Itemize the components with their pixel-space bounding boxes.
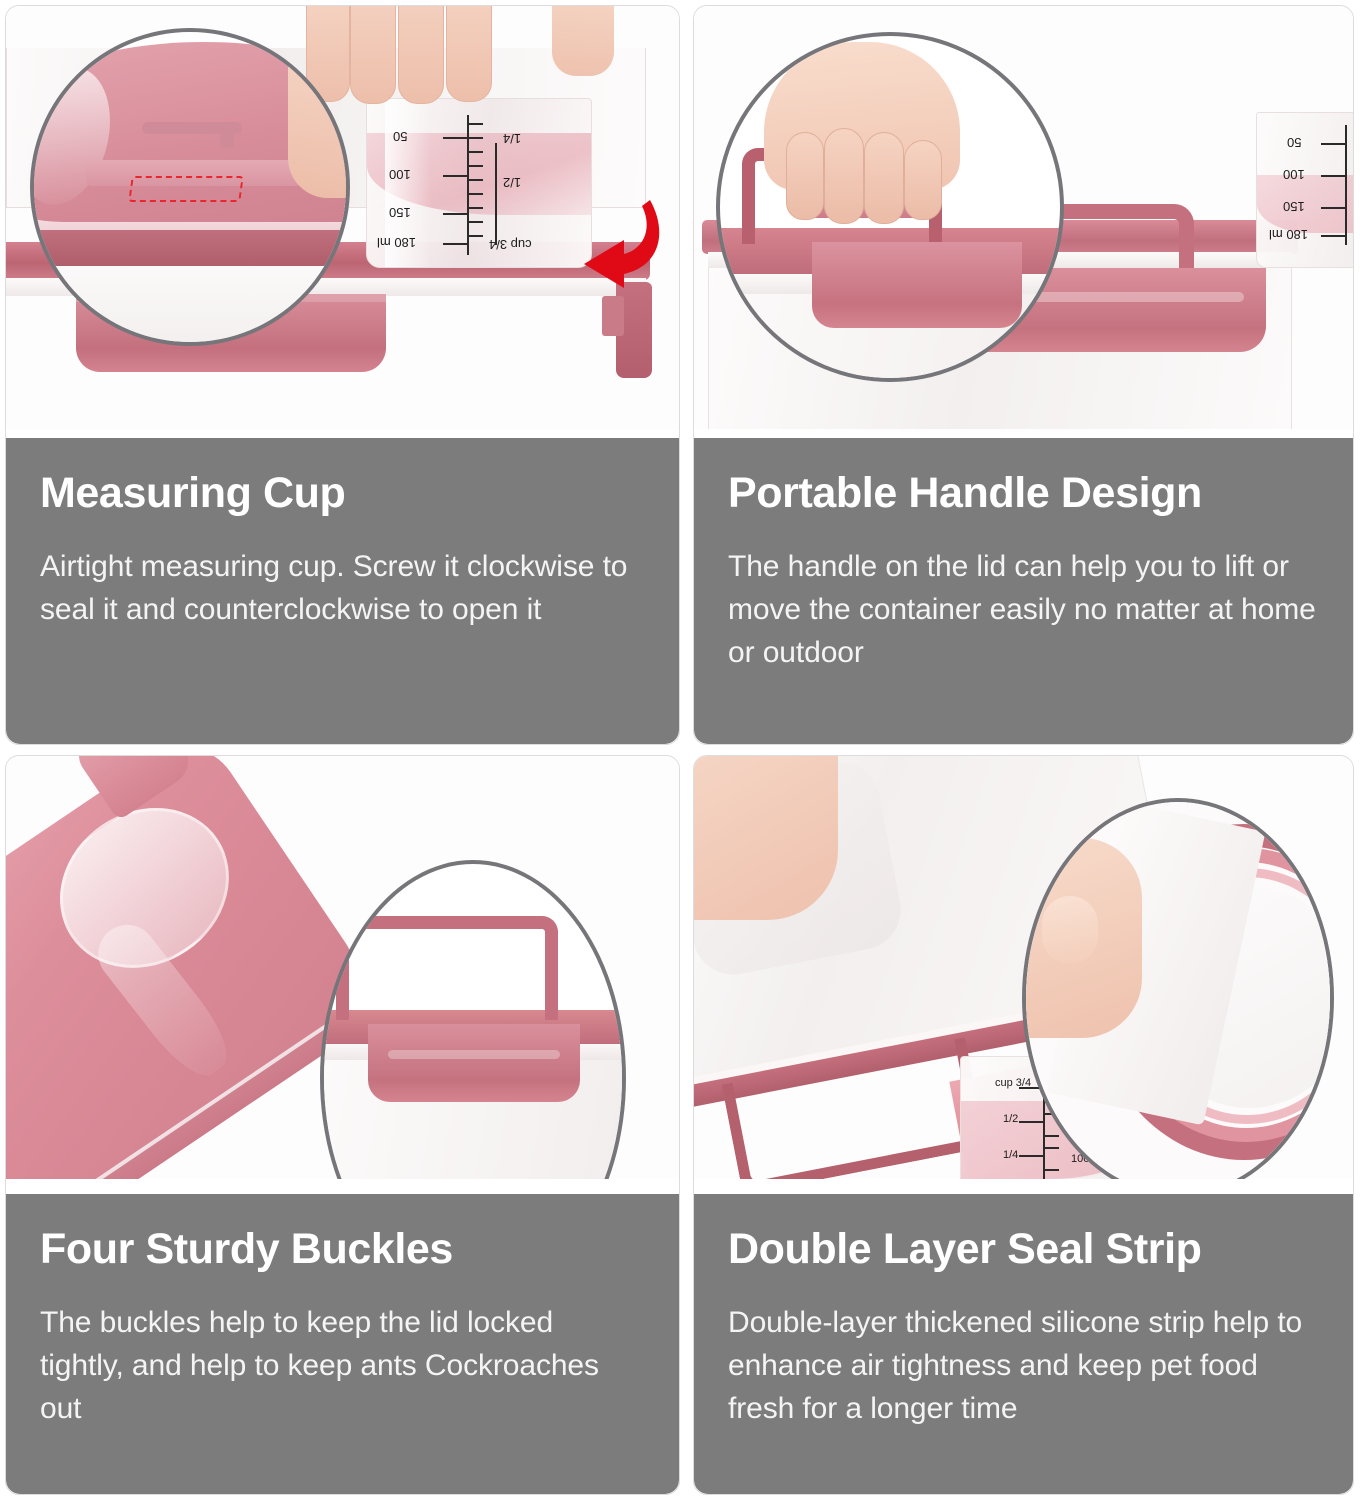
scale-label-150: 150: [389, 205, 411, 220]
scale-tick: [467, 165, 483, 167]
magnified-carry-handle: [336, 916, 558, 1020]
product-photo-double-layer-seal: cup 3/4 1/2 1/4 180 ml 150 100 50: [694, 756, 1353, 1179]
product-photo-four-buckles: [6, 756, 679, 1179]
scale-tick-major: [443, 175, 469, 177]
card-title: Four Sturdy Buckles: [40, 1228, 643, 1271]
feature-card-four-buckles: Four Sturdy Buckles The buckles help to …: [0, 750, 688, 1500]
scale-tick-major: [443, 243, 469, 245]
magnifier-screw-seal-detail: [30, 28, 350, 346]
scale-tick: [467, 207, 483, 209]
thumb: [552, 6, 614, 76]
scale-label-50: 50: [1287, 135, 1301, 150]
magnified-buckle: [368, 1024, 580, 1102]
card-title: Measuring Cup: [40, 472, 643, 515]
finger: [446, 6, 492, 102]
magnified-finger: [288, 28, 350, 198]
scale-tick: [467, 137, 483, 139]
scale-tick-major: [1321, 143, 1347, 145]
finger: [824, 128, 864, 224]
scale-axis: [467, 115, 469, 255]
scale-tick: [467, 221, 483, 223]
caption-four-buckles: Four Sturdy Buckles The buckles help to …: [6, 1194, 679, 1494]
thumbnail: [1042, 896, 1098, 964]
magnifier-closed-buckle-detail: [320, 860, 626, 1179]
buckle-grip-ridge: [388, 1050, 560, 1059]
scale-tick: [467, 193, 483, 195]
caption-measuring-cup: Measuring Cup Airtight measuring cup. Sc…: [6, 438, 679, 744]
dome-highlight: [30, 57, 124, 214]
cup-pink-band: [1257, 175, 1353, 233]
scale-tick: [467, 179, 483, 181]
card-title: Double Layer Seal Strip: [728, 1228, 1317, 1271]
measuring-cup-port: [29, 776, 260, 1000]
finger: [786, 132, 824, 220]
red-dashed-annotation: [128, 176, 244, 202]
card-body: The handle on the lid can help you to li…: [728, 545, 1317, 674]
feature-card-portable-handle: 50 100 150 180 ml: [688, 0, 1362, 750]
scale-tick: [467, 123, 483, 125]
finger: [904, 140, 942, 220]
card-frame: 50 100 150 180 ml 1/4 1/2 cup 3/4: [5, 5, 680, 745]
measuring-cup: 50 100 150 180 ml: [1256, 112, 1353, 268]
scale-label-180ml: 180 ml: [377, 235, 416, 250]
scale-tick-major: [1321, 235, 1347, 237]
scale-label-quarter: 1/4: [1003, 1149, 1018, 1161]
finger: [398, 6, 444, 104]
measuring-cup: 50 100 150 180 ml 1/4 1/2 cup 3/4: [366, 98, 592, 268]
scale-label-quarter: 1/4: [503, 131, 521, 146]
scale-tick-major: [443, 137, 469, 139]
card-body: Airtight measuring cup. Screw it clockwi…: [40, 545, 640, 631]
scale-label-half: 1/2: [1003, 1113, 1018, 1125]
magnified-lid-rim: [30, 228, 350, 266]
side-buckle-clip: [602, 296, 624, 336]
scale-label-150: 150: [1283, 199, 1305, 214]
card-frame: 50 100 150 180 ml: [693, 5, 1354, 745]
scale-label-100: 100: [1283, 167, 1305, 182]
magnified-buckle: [812, 242, 1022, 328]
palm: [694, 756, 838, 920]
scale-tick: [467, 235, 483, 237]
scale-tick: [467, 151, 483, 153]
product-photo-measuring-cup: 50 100 150 180 ml 1/4 1/2 cup 3/4: [6, 6, 679, 429]
magnifier-double-seal-ring-detail: [1022, 798, 1334, 1179]
finger: [864, 132, 904, 224]
scale-tick-major: [443, 213, 469, 215]
caption-portable-handle: Portable Handle Design The handle on the…: [694, 438, 1353, 744]
scale-label-50: 50: [393, 129, 407, 144]
scale-tick-major: [1321, 175, 1347, 177]
card-frame: Four Sturdy Buckles The buckles help to …: [5, 755, 680, 1495]
magnifier-hand-gripping-handle: [716, 32, 1064, 382]
screw-nub-stop: [220, 128, 234, 148]
scale-label-100: 100: [389, 167, 411, 182]
card-title: Portable Handle Design: [728, 472, 1317, 515]
card-body: The buckles help to keep the lid locked …: [40, 1301, 640, 1430]
feature-card-measuring-cup: 50 100 150 180 ml 1/4 1/2 cup 3/4: [0, 0, 688, 750]
scale-bracket: [495, 143, 497, 245]
feature-grid: 50 100 150 180 ml 1/4 1/2 cup 3/4: [0, 0, 1362, 1500]
magnified-container-body: [30, 264, 350, 346]
finger: [350, 6, 396, 104]
hand: [694, 756, 878, 930]
thumb: [1022, 838, 1142, 1038]
scale-tick-major: [1321, 207, 1347, 209]
product-photo-portable-handle: 50 100 150 180 ml: [694, 6, 1353, 429]
scale-label-180ml: 180 ml: [1269, 227, 1308, 242]
rotation-arrow-icon: [572, 192, 668, 302]
caption-double-layer-seal: Double Layer Seal Strip Double-layer thi…: [694, 1194, 1353, 1494]
card-body: Double-layer thickened silicone strip he…: [728, 1301, 1317, 1430]
card-frame: cup 3/4 1/2 1/4 180 ml 150 100 50: [693, 755, 1354, 1495]
feature-card-double-layer-seal: cup 3/4 1/2 1/4 180 ml 150 100 50: [688, 750, 1362, 1500]
scale-label-half: 1/2: [503, 175, 521, 190]
